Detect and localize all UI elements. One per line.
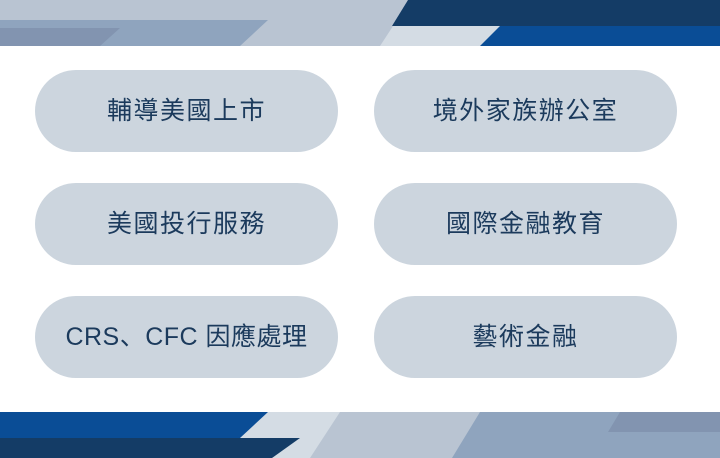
pill-label: 輔導美國上市 — [107, 99, 266, 124]
pill-label: 美國投行服務 — [107, 212, 266, 237]
top-shape-pale — [0, 0, 720, 46]
pill-crs-cfc-handling[interactable]: CRS、CFC 因應處理 — [35, 296, 338, 378]
top-shape-gray-accent — [0, 28, 120, 46]
top-diagonal-banner — [0, 0, 720, 56]
bottom-shape-gray-mid — [452, 412, 720, 458]
bottom-banner-shapes — [0, 402, 720, 458]
top-banner-shapes — [0, 0, 720, 56]
bottom-shape-pale — [0, 412, 720, 458]
pill-label: 藝術金融 — [472, 325, 578, 350]
top-shape-blue — [480, 26, 720, 46]
bottom-diagonal-banner — [0, 402, 720, 458]
pill-label: 境外家族辦公室 — [433, 99, 619, 124]
pill-art-finance[interactable]: 藝術金融 — [374, 296, 677, 378]
pill-offshore-family-office[interactable]: 境外家族辦公室 — [374, 70, 677, 152]
service-pill-grid: 輔導美國上市 境外家族辦公室 美國投行服務 國際金融教育 CRS、CFC 因應處… — [35, 70, 677, 378]
top-shape-light-left — [0, 0, 410, 46]
top-shape-gray-mid — [0, 20, 268, 46]
bottom-shape-gray-accent — [608, 412, 720, 432]
pill-us-investment-banking[interactable]: 美國投行服務 — [35, 183, 338, 265]
top-shape-navy — [392, 0, 720, 26]
pill-label: CRS、CFC 因應處理 — [65, 325, 307, 350]
pill-label: 國際金融教育 — [446, 212, 605, 237]
bottom-shape-blue — [0, 412, 268, 438]
bottom-shape-light-right — [310, 412, 720, 458]
pill-us-ipo-guidance[interactable]: 輔導美國上市 — [35, 70, 338, 152]
bottom-shape-navy — [0, 438, 300, 458]
pill-intl-finance-education[interactable]: 國際金融教育 — [374, 183, 677, 265]
slide-canvas: 輔導美國上市 境外家族辦公室 美國投行服務 國際金融教育 CRS、CFC 因應處… — [0, 0, 720, 458]
